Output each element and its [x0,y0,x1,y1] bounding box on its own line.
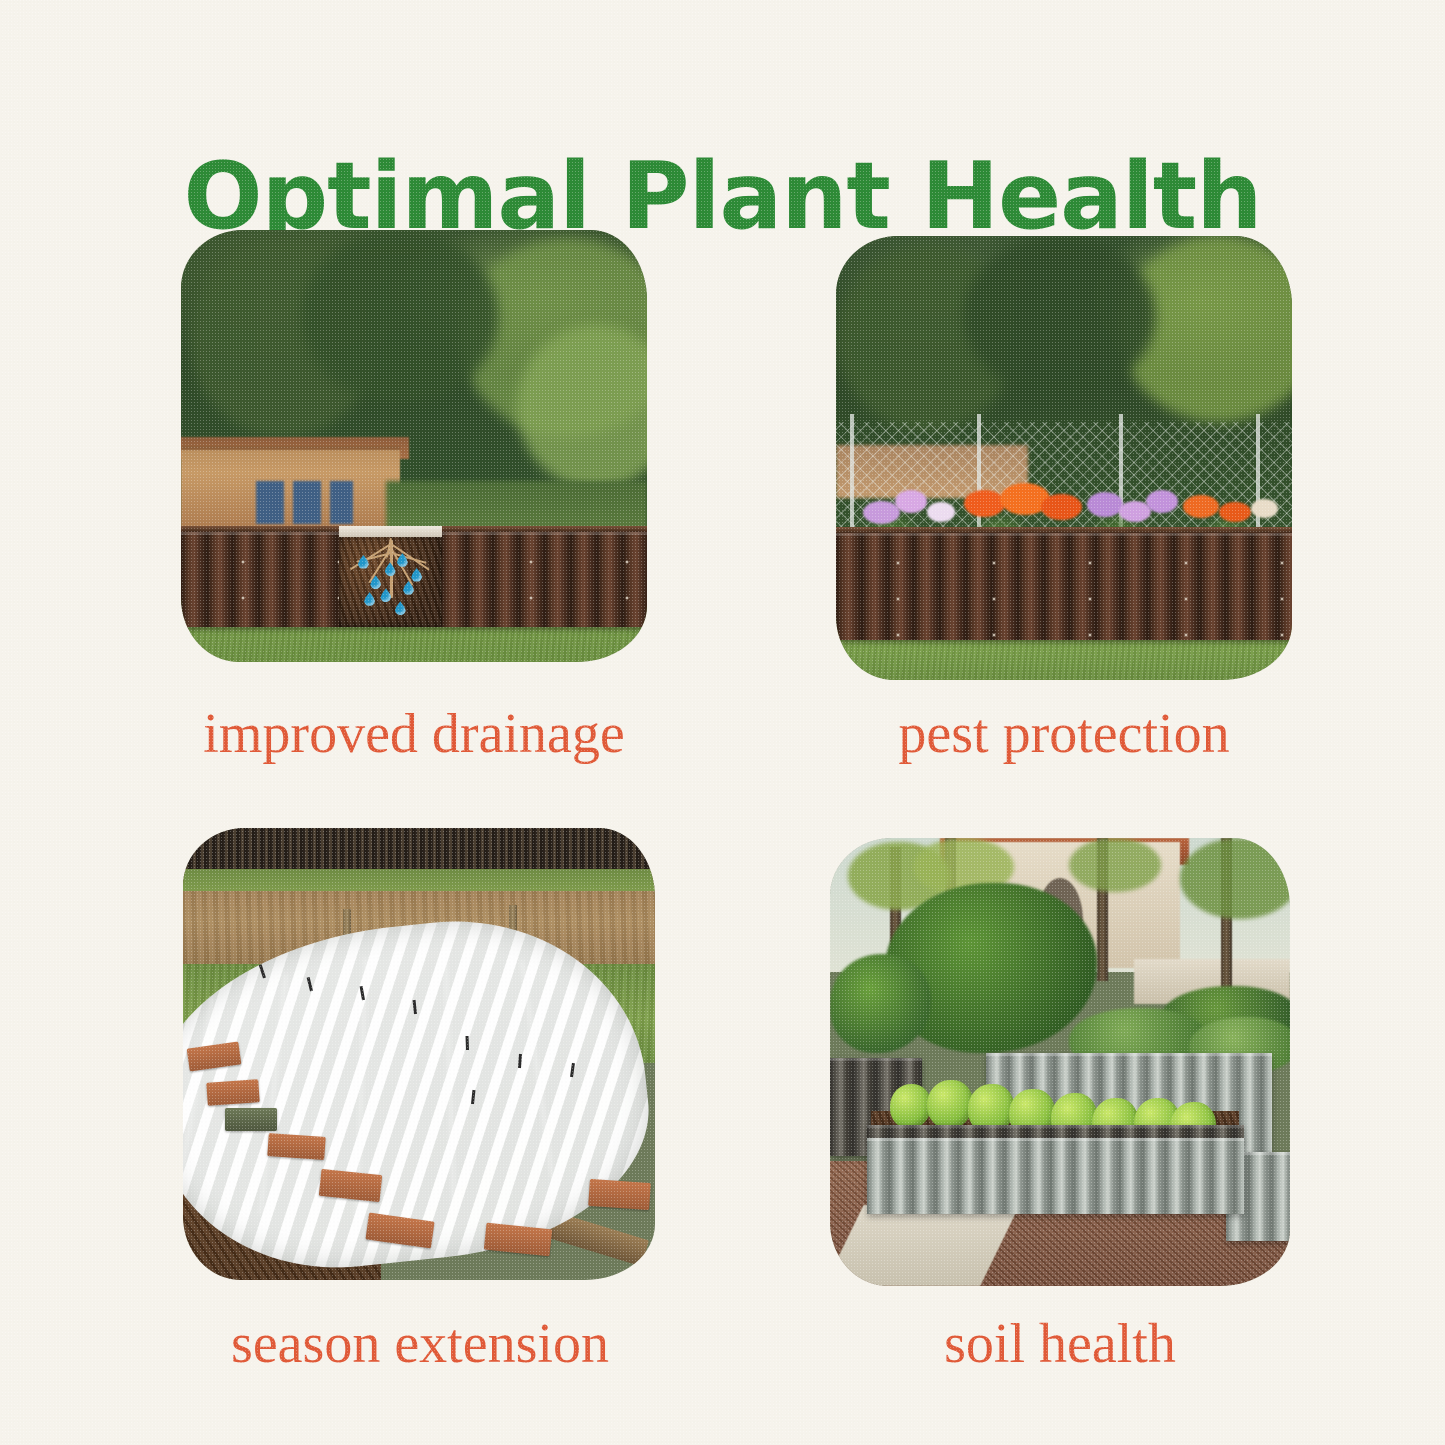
house-window [256,481,284,524]
water-droplet [395,601,406,615]
fabric-fold [444,956,455,1203]
photo-card-pest-protection[interactable] [836,236,1292,680]
bed-rivets [836,533,1292,640]
raised-bed-corrugated [836,533,1292,640]
palm-frond [1069,838,1161,892]
photo-card-improved-drainage[interactable] [181,230,647,662]
photo-pest-protection [836,236,1292,680]
flower-purple [863,501,899,524]
anchor-brick [206,1079,259,1105]
shrub [830,954,931,1053]
caption-soil-health: soil health [830,1316,1290,1372]
water-droplet [364,592,375,606]
house-window [330,481,353,524]
flower-white [927,502,954,522]
palm-frond [1180,838,1290,919]
photo-card-soil-health[interactable] [830,838,1290,1286]
anchor-brick [225,1108,277,1131]
flower-purple [1087,492,1123,517]
anchor-brick [319,1168,383,1201]
flower-orange [1183,495,1219,518]
caption-improved-drainage: improved drainage [181,706,647,762]
soil-cutaway-window [339,535,442,628]
infographic-page: Optimal Plant Health [0,0,1445,1445]
anchor-brick [267,1133,325,1159]
flower-orange [1041,494,1082,521]
flower-purple [895,490,927,513]
water-droplet [411,568,422,582]
tree-canopy-blob [302,230,498,403]
flower-orange [1219,502,1251,522]
water-droplet [385,562,396,576]
photo-card-season-extension[interactable] [183,828,655,1280]
fabric-fold [259,975,286,1215]
flower-orange [964,490,1005,517]
house-window [293,481,321,524]
raised-bed-front [867,1138,1244,1214]
flower-white [1251,499,1278,519]
fabric-fold [520,961,553,1180]
photo-season-extension [183,828,655,1280]
photo-improved-drainage [181,230,647,662]
lettuce-head [927,1080,973,1129]
photo-soil-health [830,838,1290,1286]
cutaway-top-edge [339,526,442,537]
tree-canopy-blob [964,236,1156,396]
caption-season-extension: season extension [160,1316,680,1372]
caption-pest-protection: pest protection [836,706,1292,762]
grass-strip [183,869,655,892]
anchor-brick [588,1178,651,1209]
flower-purple [1146,490,1178,513]
